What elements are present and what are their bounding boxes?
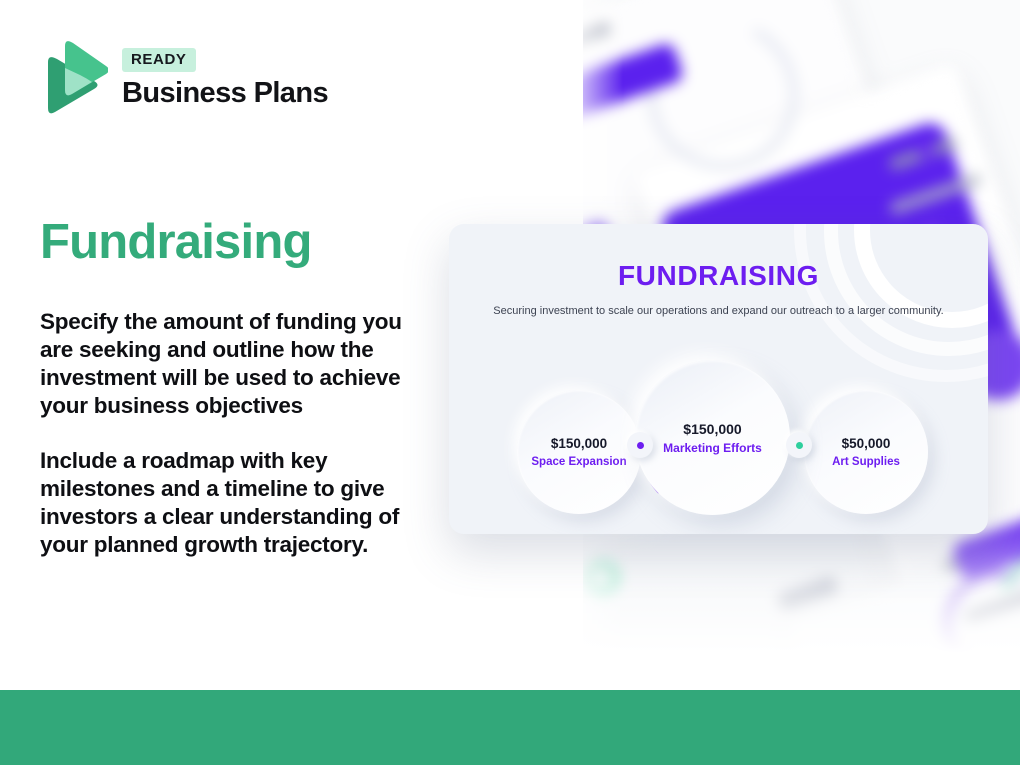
funding-bubble-marketing-efforts[interactable]: $150,000 Marketing Efforts	[635, 360, 790, 515]
funding-label: Art Supplies	[832, 455, 900, 469]
funding-amount: $50,000	[842, 435, 891, 452]
photo-bottom-fade	[583, 520, 1020, 690]
funding-bubble-art-supplies[interactable]: $50,000 Art Supplies	[804, 390, 928, 514]
funding-amount: $150,000	[683, 421, 741, 438]
dot-purple-icon	[637, 442, 644, 449]
page-title: Fundraising	[40, 214, 312, 270]
funding-label: Space Expansion	[531, 455, 626, 469]
funding-label: Marketing Efforts	[663, 441, 762, 455]
ready-badge: READY	[122, 48, 196, 72]
bg-purple-shape	[918, 142, 934, 158]
brand-text-block: READY Business Plans	[122, 46, 328, 110]
slide-canvas: READY Business Plans Fundraising Specify…	[0, 0, 1020, 765]
connector-node-left	[627, 432, 653, 458]
funding-bubble-space-expansion[interactable]: $150,000 Space Expansion	[517, 390, 641, 514]
body-paragraph-1: Specify the amount of funding you are se…	[40, 308, 430, 420]
card-title: FUNDRAISING	[449, 260, 988, 292]
connector-node-right	[786, 432, 812, 458]
card-subtitle: Securing investment to scale our operati…	[449, 304, 988, 319]
play-triangle-logo-icon	[40, 38, 108, 118]
funding-amount: $150,000	[551, 435, 607, 452]
dot-green-icon	[796, 442, 803, 449]
funding-breakdown-diagram: $150,000 Space Expansion $50,000 Art Sup…	[449, 364, 988, 524]
brand-name: Business Plans	[122, 77, 328, 110]
fundraising-slide-card: FUNDRAISING Securing investment to scale…	[449, 224, 988, 534]
footer-bar	[0, 690, 1020, 765]
body-paragraph-2: Include a roadmap with key milestones an…	[40, 447, 430, 559]
brand-logo: READY Business Plans	[40, 38, 328, 118]
